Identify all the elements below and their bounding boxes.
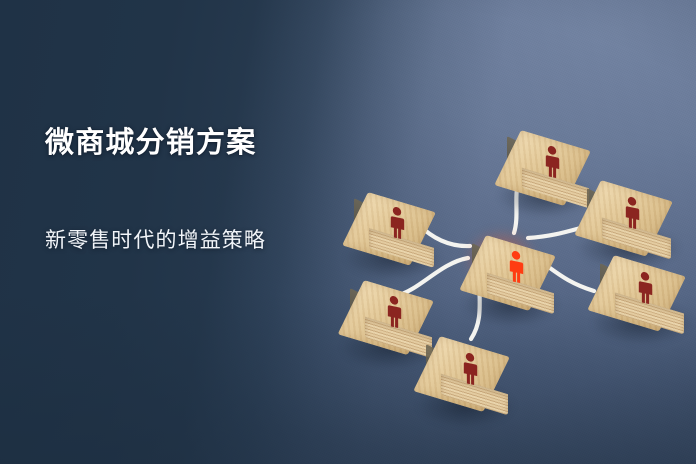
person-figure-icon	[386, 206, 410, 240]
person-figure-icon	[621, 196, 645, 230]
person-figure-icon	[634, 271, 658, 305]
person-figure-icon	[383, 295, 407, 329]
promo-banner: 微商城分销方案 新零售时代的增益策略	[0, 0, 696, 464]
block-right-upper	[585, 178, 685, 262]
block-top-right	[505, 128, 591, 212]
person-figure-icon	[459, 352, 483, 386]
banner-subtitle: 新零售时代的增益策略	[45, 222, 277, 260]
block-right-lower	[598, 253, 696, 339]
headline-block: 微商城分销方案 新零售时代的增益策略	[45, 126, 313, 260]
person-figure-icon-highlighted	[505, 250, 529, 284]
person-figure-icon	[541, 145, 565, 179]
block-bottom	[424, 334, 518, 422]
center-block	[470, 233, 562, 321]
block-left-upper	[352, 190, 442, 274]
banner-title: 微商城分销方案	[45, 126, 313, 160]
